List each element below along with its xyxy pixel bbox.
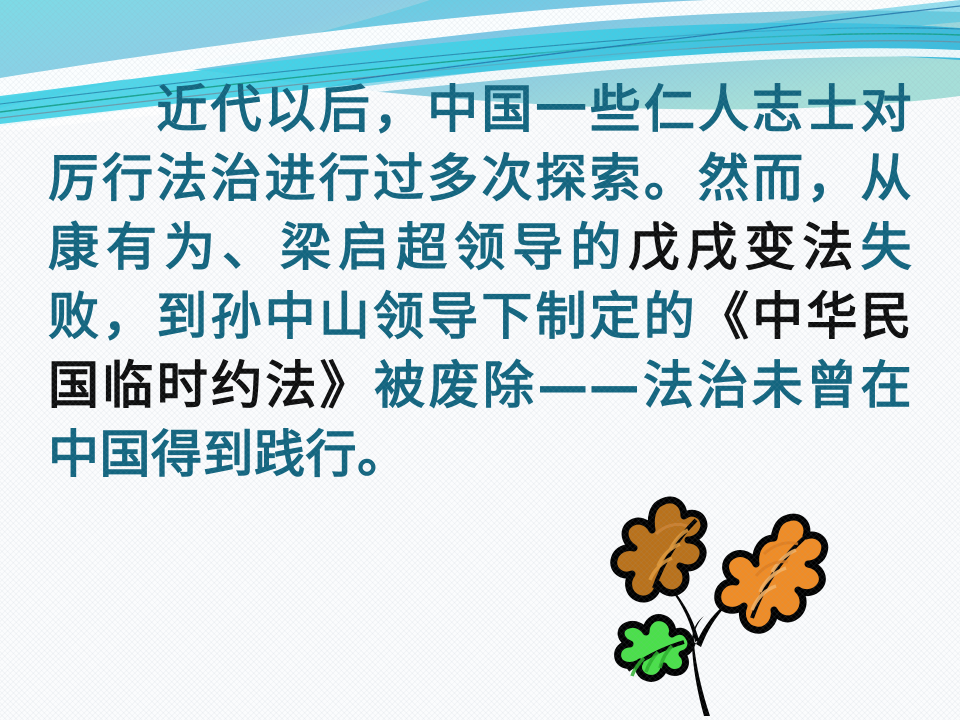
oak-leaf-sprig <box>592 492 872 720</box>
green-oak-leaf <box>618 618 691 679</box>
emphasized-text-run: 戊戌变法 <box>628 219 860 278</box>
presentation-slide: 近代以后，中国一些仁人志士对厉行法治进行过多次探索。然而，从康有为、梁启超领导的… <box>0 0 960 720</box>
body-paragraph-text: 近代以后，中国一些仁人志士对厉行法治进行过多次探索。然而，从康有为、梁启超领导的… <box>48 76 912 490</box>
orange-oak-leaf <box>718 517 825 630</box>
slide-content: 近代以后，中国一些仁人志士对厉行法治进行过多次探索。然而，从康有为、梁启超领导的… <box>0 0 960 720</box>
brown-oak-leaf <box>614 500 704 599</box>
body-paragraph: 近代以后，中国一些仁人志士对厉行法治进行过多次探索。然而，从康有为、梁启超领导的… <box>48 76 912 490</box>
